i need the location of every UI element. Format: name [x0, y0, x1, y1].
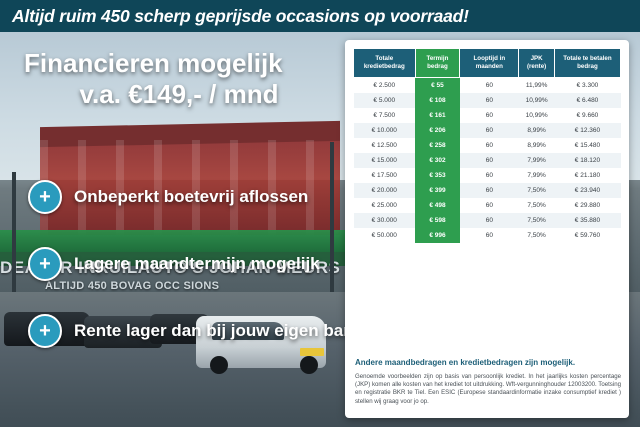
- benefit-label-2: Lagere maandtermijn mogelijk: [74, 254, 320, 274]
- table-cell: € 21.180: [554, 168, 620, 183]
- table-cell: € 59.760: [554, 228, 620, 243]
- table-cell: € 23.940: [554, 183, 620, 198]
- headline-block: Financieren mogelijk v.a. €149,- / mnd: [24, 48, 324, 110]
- table-cell: € 35.880: [554, 213, 620, 228]
- table-cell: € 6.480: [554, 93, 620, 108]
- banner-headline: Altijd ruim 450 scherp geprijsde occasio…: [0, 6, 469, 27]
- table-cell: € 12.500: [354, 138, 416, 153]
- table-cell: € 25.000: [354, 198, 416, 213]
- table-cell: 60: [460, 78, 519, 94]
- table-cell: 10,99%: [519, 93, 555, 108]
- benefit-item-1: + Onbeperkt boetevrij aflossen: [28, 180, 348, 214]
- table-cell: 60: [460, 168, 519, 183]
- light-pole: [12, 172, 16, 292]
- table-row: € 5.000€ 1086010,99%€ 6.480: [354, 93, 621, 108]
- table-row: € 30.000€ 598607,50%€ 35.880: [354, 213, 621, 228]
- table-cell: € 20.000: [354, 183, 416, 198]
- table-cell: € 108: [415, 93, 460, 108]
- col-header-apr: JPK (rente): [519, 49, 555, 78]
- plus-icon: +: [28, 180, 62, 214]
- table-row: € 20.000€ 399607,50%€ 23.940: [354, 183, 621, 198]
- table-cell: € 302: [415, 153, 460, 168]
- table-cell: € 30.000: [354, 213, 416, 228]
- table-cell: € 50.000: [354, 228, 416, 243]
- table-cell: 60: [460, 93, 519, 108]
- table-row: € 17.500€ 353607,99%€ 21.180: [354, 168, 621, 183]
- table-cell: 60: [460, 153, 519, 168]
- benefits-list: + Onbeperkt boetevrij aflossen + Lagere …: [28, 180, 348, 381]
- plus-icon: +: [28, 314, 62, 348]
- headline-line-2: v.a. €149,- / mnd: [24, 78, 324, 110]
- table-row: € 10.000€ 206608,99%€ 12.360: [354, 123, 621, 138]
- table-cell: 7,50%: [519, 198, 555, 213]
- table-cell: 7,99%: [519, 153, 555, 168]
- table-cell: € 15.000: [354, 153, 416, 168]
- table-cell: € 17.500: [354, 168, 416, 183]
- table-cell: € 18.120: [554, 153, 620, 168]
- table-cell: 60: [460, 108, 519, 123]
- table-cell: 60: [460, 198, 519, 213]
- table-body: € 2.500€ 556011,99%€ 3.300€ 5.000€ 10860…: [354, 78, 621, 244]
- table-cell: 8,99%: [519, 123, 555, 138]
- table-cell: € 399: [415, 183, 460, 198]
- table-cell: € 161: [415, 108, 460, 123]
- table-cell: 8,99%: [519, 138, 555, 153]
- benefit-item-2: + Lagere maandtermijn mogelijk: [28, 247, 348, 281]
- table-cell: 7,50%: [519, 228, 555, 243]
- table-cell: € 12.360: [554, 123, 620, 138]
- table-row: € 12.500€ 258608,99%€ 15.480: [354, 138, 621, 153]
- table-row: € 25.000€ 498607,50%€ 29.880: [354, 198, 621, 213]
- table-cell: € 29.880: [554, 198, 620, 213]
- col-header-total-payable: Totale te betalen bedrag: [554, 49, 620, 78]
- advertisement-canvas: DEALER INRUILAUTO'S JOHAN MEURS ALTIJD 4…: [0, 0, 640, 427]
- rates-panel: Totale kredietbedrag Termijn bedrag Loop…: [345, 40, 629, 418]
- table-header-row: Totale kredietbedrag Termijn bedrag Loop…: [354, 49, 621, 78]
- table-cell: 60: [460, 123, 519, 138]
- table-cell: € 353: [415, 168, 460, 183]
- table-cell: € 9.660: [554, 108, 620, 123]
- table-cell: 7,99%: [519, 168, 555, 183]
- table-cell: € 996: [415, 228, 460, 243]
- table-row: € 50.000€ 996607,50%€ 59.760: [354, 228, 621, 243]
- table-cell: 7,50%: [519, 213, 555, 228]
- financing-rates-table: Totale kredietbedrag Termijn bedrag Loop…: [353, 48, 621, 243]
- table-cell: 60: [460, 213, 519, 228]
- col-header-duration: Looptijd in maanden: [460, 49, 519, 78]
- table-cell: 60: [460, 183, 519, 198]
- benefit-label-1: Onbeperkt boetevrij aflossen: [74, 187, 308, 207]
- note-body: Genoemde voorbeelden zijn op basis van p…: [355, 373, 621, 406]
- table-cell: € 55: [415, 78, 460, 94]
- table-cell: 60: [460, 228, 519, 243]
- table-cell: € 3.300: [554, 78, 620, 94]
- table-cell: 11,99%: [519, 78, 555, 94]
- table-cell: € 5.000: [354, 93, 416, 108]
- table-row: € 7.500€ 1616010,99%€ 9.660: [354, 108, 621, 123]
- table-row: € 2.500€ 556011,99%€ 3.300: [354, 78, 621, 94]
- headline-line-1: Financieren mogelijk: [24, 48, 324, 78]
- table-row: € 15.000€ 302607,99%€ 18.120: [354, 153, 621, 168]
- table-cell: € 15.480: [554, 138, 620, 153]
- table-cell: 60: [460, 138, 519, 153]
- col-header-monthly-amount: Termijn bedrag: [415, 49, 460, 78]
- plus-icon: +: [28, 247, 62, 281]
- table-cell: € 10.000: [354, 123, 416, 138]
- table-cell: € 206: [415, 123, 460, 138]
- table-cell: 7,50%: [519, 183, 555, 198]
- note-title: Andere maandbedragen en kredietbedragen …: [355, 358, 621, 368]
- benefit-label-3: Rente lager dan bij jouw eigen bank: [74, 321, 363, 341]
- col-header-total-credit: Totale kredietbedrag: [354, 49, 416, 78]
- table-cell: € 258: [415, 138, 460, 153]
- table-cell: € 598: [415, 213, 460, 228]
- table-cell: 10,99%: [519, 108, 555, 123]
- top-banner: Altijd ruim 450 scherp geprijsde occasio…: [0, 0, 640, 32]
- table-cell: € 498: [415, 198, 460, 213]
- table-cell: € 2.500: [354, 78, 416, 94]
- table-cell: € 7.500: [354, 108, 416, 123]
- benefit-item-3: + Rente lager dan bij jouw eigen bank: [28, 314, 348, 348]
